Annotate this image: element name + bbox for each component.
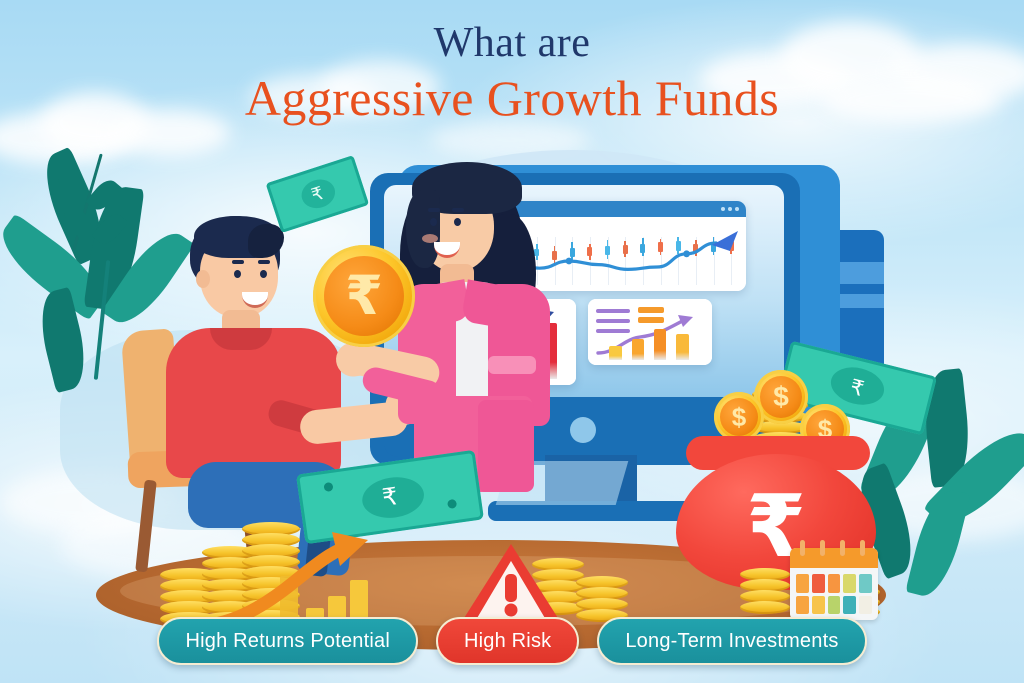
label-pill-row: High Returns Potential High Risk Long-Te… <box>0 617 1024 665</box>
infographic-poster: ₹ ₹ ₹ ₹ <box>0 0 1024 683</box>
plant-sprig <box>46 152 136 262</box>
rupee-symbol: ₹ <box>313 245 415 347</box>
eye <box>260 270 267 278</box>
small-bars <box>600 320 698 360</box>
man-shirt <box>166 328 341 478</box>
small-bar-chart-panel <box>588 299 712 365</box>
blazer-pocket <box>488 356 536 374</box>
chart-bar <box>654 329 667 360</box>
pill-long-term-investments[interactable]: Long-Term Investments <box>597 617 866 665</box>
pill-high-returns-potential[interactable]: High Returns Potential <box>157 617 418 665</box>
chart-bar <box>676 334 689 360</box>
title-line-1: What are <box>0 22 1024 64</box>
coin-stacks-left <box>160 520 370 630</box>
gold-rupee-coin: ₹ <box>313 245 415 347</box>
eye <box>454 218 461 226</box>
chart-bar <box>632 339 645 360</box>
pill-high-risk[interactable]: High Risk <box>436 617 579 665</box>
calendar <box>786 538 882 624</box>
monitor-power-button[interactable] <box>570 417 596 443</box>
standing-woman <box>392 160 562 490</box>
window-dots-right <box>721 207 739 211</box>
title-block: What are Aggressive Growth Funds <box>0 22 1024 128</box>
eye <box>234 270 241 278</box>
chart-bar <box>609 346 622 360</box>
title-line-2: Aggressive Growth Funds <box>0 70 1024 128</box>
calendar-grid <box>796 574 872 614</box>
eye <box>430 218 437 226</box>
dollar-coin: $ <box>714 392 764 442</box>
